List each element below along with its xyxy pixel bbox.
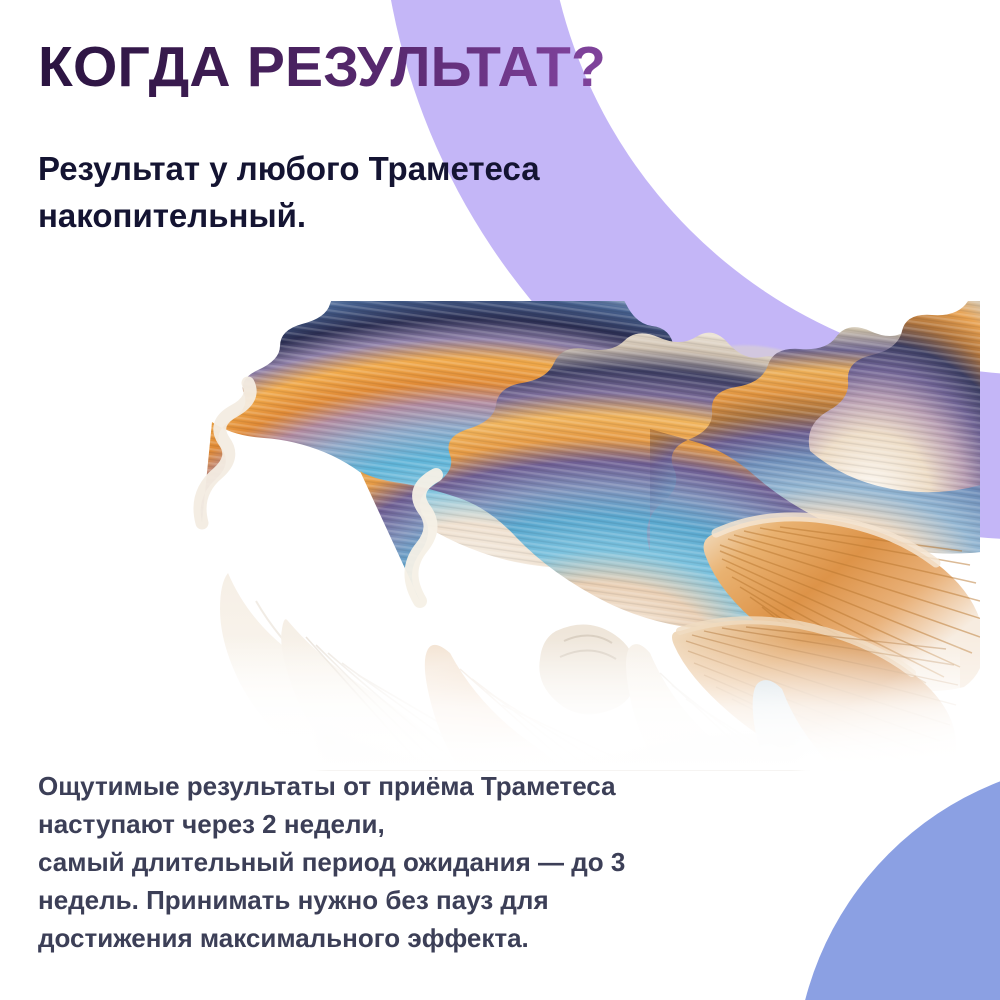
body-text: Ощутимые результаты от приёма Траметеса … [38, 768, 738, 958]
body-line-5: достижения максимального эффекта. [38, 920, 738, 958]
subtitle-line-2: накопительный. [38, 193, 718, 240]
body-line-4: недель. Принимать нужно без пауз для [38, 882, 738, 920]
body-line-1: Ощутимые результаты от приёма Траметеса [38, 768, 738, 806]
subtitle: Результат у любого Траметеса накопительн… [38, 146, 718, 240]
page-title: КОГДА РЕЗУЛЬТАТ? [38, 38, 678, 97]
body-line-2: наступают через 2 недели, [38, 806, 738, 844]
mushroom-reflection-fade [120, 631, 980, 771]
subtitle-line-1: Результат у любого Траметеса [38, 146, 718, 193]
periwinkle-circle-shape [795, 760, 1000, 1000]
slide-canvas: КОГДА РЕЗУЛЬТАТ? Результат у любого Трам… [0, 0, 1000, 1000]
turkey-tail-mushroom-image [120, 301, 980, 771]
body-line-3: самый длительный период ожидания — до 3 [38, 844, 738, 882]
